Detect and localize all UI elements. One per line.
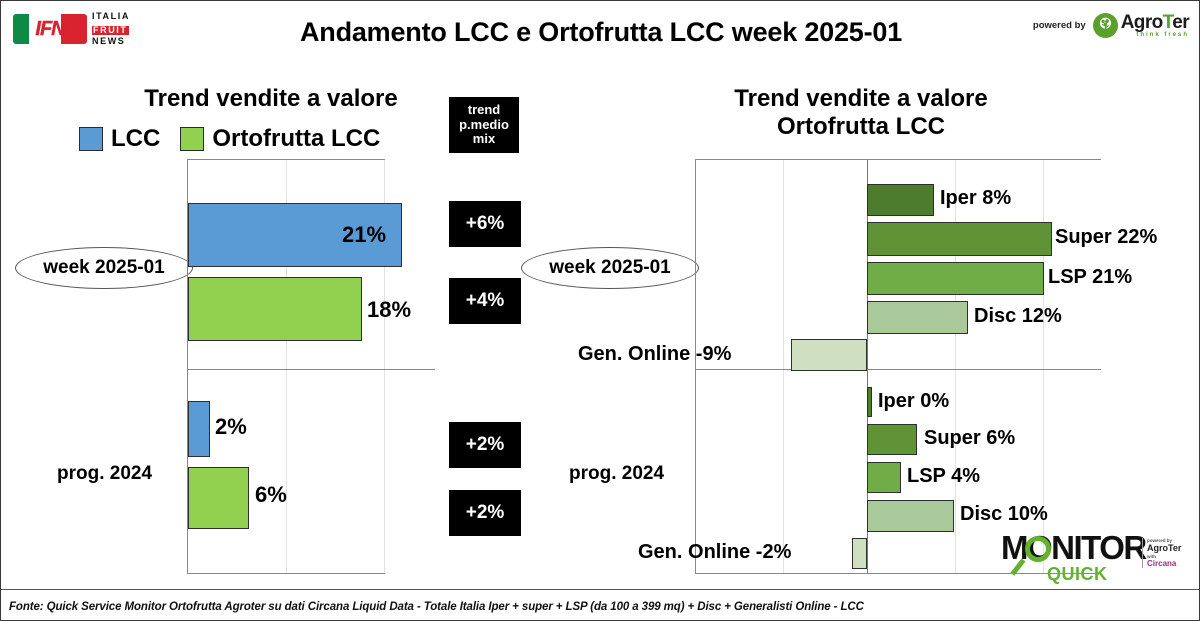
monitor-quick-logo: MONITOR QUICK powered by AgroTer with Ci…	[1001, 534, 1191, 586]
bar-label-prog-super: Super 6%	[924, 427, 1015, 450]
legend-label-lcc: LCC	[111, 125, 160, 153]
powered-by-block: powered by AgroTer think fresh	[1033, 13, 1189, 38]
right-chart-left-border	[695, 159, 696, 574]
bar-label-prog-iper: Iper 0%	[878, 390, 949, 413]
bar-label-week-ortofrutta: 18%	[367, 297, 411, 323]
bar-label-week-lsp: LSP 21%	[1048, 266, 1132, 289]
monitor-quick-credits: powered by AgroTer with Circana	[1142, 538, 1191, 568]
agroter-wordmark: AgroTer think fresh	[1121, 13, 1189, 38]
bar-prog-lsp[interactable]	[867, 462, 901, 493]
trend-box-line1: trend	[459, 103, 509, 118]
bar-label-week-lcc: 21%	[342, 222, 386, 248]
legend-swatch-lcc	[79, 127, 103, 151]
bar-prog-lcc[interactable]	[188, 401, 210, 457]
quick-word: QUICK	[1047, 564, 1108, 585]
left-chart-plot-area: 21% 18% 2% 6%	[187, 159, 385, 574]
right-chart-title-line2: Ortofrutta LCC	[641, 113, 1081, 141]
left-chart-title: Trend vendite a valore	[61, 85, 481, 113]
bar-prog-gen-online[interactable]	[852, 538, 867, 569]
page-title: Andamento LCC e Ortofrutta LCC week 2025…	[1, 17, 1200, 48]
tag-prog-ortofrutta: +2%	[449, 490, 521, 536]
trend-pmedio-mix-header: trend p.medio mix	[449, 97, 519, 153]
credit-agroter: AgroTer	[1147, 543, 1191, 553]
right-chart-title: Trend vendite a valore Ortofrutta LCC	[641, 85, 1081, 142]
bar-label-prog-ortofrutta: 6%	[255, 482, 287, 508]
bar-label-prog-gen-online: Gen. Online -2%	[638, 541, 791, 564]
right-group-label-prog: prog. 2024	[569, 463, 664, 485]
agroter-logo: AgroTer think fresh	[1093, 13, 1189, 38]
monitor-word: MONITOR	[1001, 534, 1146, 562]
powered-by-label: powered by	[1033, 20, 1086, 31]
bar-label-prog-disc: Disc 10%	[960, 503, 1048, 526]
legend-item-ortofrutta: Ortofrutta LCC	[180, 125, 380, 153]
magnifier-icon	[1025, 536, 1051, 562]
tag-prog-lcc: +2%	[449, 422, 521, 468]
source-note: Fonte: Quick Service Monitor Ortofrutta …	[9, 601, 864, 613]
legend-item-lcc: LCC	[79, 125, 160, 153]
right-chart-title-line1: Trend vendite a valore	[641, 85, 1081, 113]
bar-label-week-disc: Disc 12%	[974, 305, 1062, 328]
legend-swatch-ortofrutta	[180, 127, 204, 151]
bar-week-lsp[interactable]	[867, 262, 1044, 295]
bar-week-super[interactable]	[867, 222, 1052, 256]
bar-label-week-gen-online: Gen. Online -9%	[578, 343, 731, 366]
bar-label-prog-lsp: LSP 4%	[907, 465, 980, 488]
left-chart-top-border	[187, 159, 385, 160]
bar-week-gen-online[interactable]	[791, 339, 867, 371]
tag-week-ortofrutta: +4%	[449, 278, 521, 324]
tag-week-lcc: +6%	[449, 201, 521, 247]
agroter-name-b: T	[1163, 12, 1173, 33]
agroter-name-c: er	[1172, 12, 1189, 33]
bar-week-disc[interactable]	[867, 301, 968, 334]
right-group-label-week: week 2025-01	[521, 247, 699, 289]
slide-canvas: IFN ITALIA FRUIT NEWS Andamento LCC e Or…	[0, 0, 1200, 621]
right-chart-plot-area: Iper 8% Super 22% LSP 21% Disc 12% Gen. …	[695, 159, 1101, 574]
bar-label-week-iper: Iper 8%	[940, 187, 1011, 210]
left-chart-legend: LCC Ortofrutta LCC	[79, 125, 380, 153]
bar-label-prog-lcc: 2%	[215, 414, 247, 440]
bar-label-week-super: Super 22%	[1055, 226, 1157, 249]
right-chart-group-separator	[695, 369, 1101, 370]
left-group-label-prog: prog. 2024	[57, 463, 152, 485]
left-chart-group-separator	[187, 369, 435, 370]
trend-box-line3: mix	[459, 132, 509, 147]
tree-icon	[1093, 13, 1118, 38]
bar-week-iper[interactable]	[867, 184, 934, 216]
bar-prog-super[interactable]	[867, 424, 917, 455]
bar-week-ortofrutta[interactable]	[188, 277, 362, 341]
agroter-name: AgroTer	[1121, 13, 1189, 32]
footer-divider	[1, 589, 1199, 590]
right-chart-top-border	[695, 159, 1101, 160]
left-group-label-week: week 2025-01	[15, 247, 193, 289]
agroter-name-a: Agro	[1121, 12, 1163, 33]
trend-box-line2: p.medio	[459, 118, 509, 133]
bar-prog-iper[interactable]	[867, 387, 872, 417]
right-chart-gridline-1	[783, 159, 784, 574]
bar-prog-ortofrutta[interactable]	[188, 467, 249, 529]
credit-circana: Circana	[1147, 559, 1191, 568]
left-chart-x-axis	[187, 573, 385, 574]
legend-label-ortofrutta: Ortofrutta LCC	[212, 125, 380, 153]
bar-prog-disc[interactable]	[867, 500, 954, 532]
